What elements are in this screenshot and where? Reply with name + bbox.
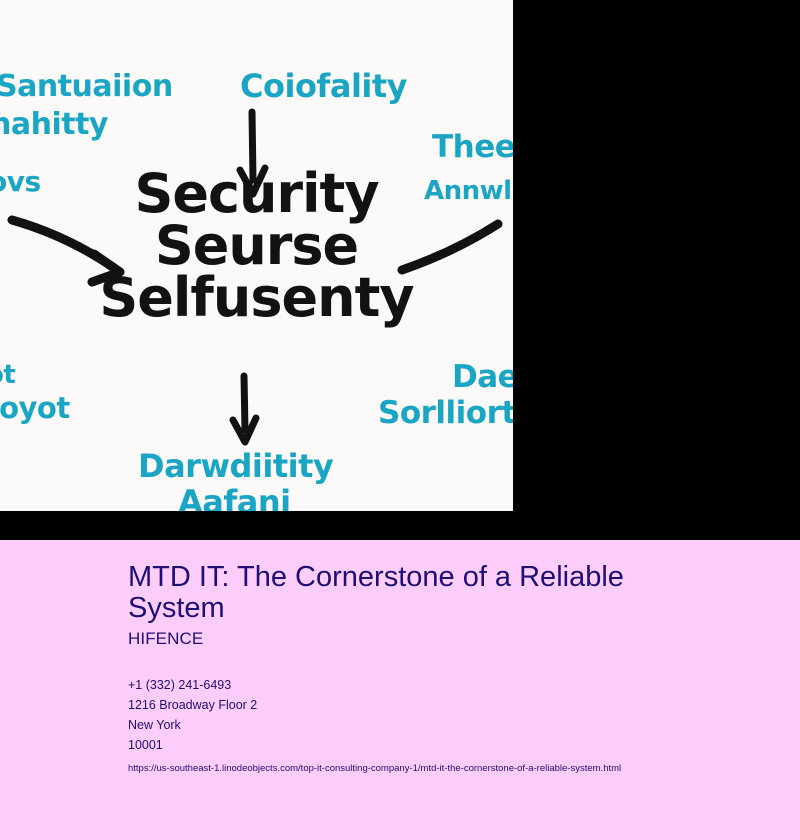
arrow-down-bottom-icon xyxy=(222,372,272,452)
arrow-right-left-side-icon xyxy=(6,214,136,294)
diagram-label-bottom-center-1: Darwdiitity xyxy=(138,450,333,483)
contact-phone: +1 (332) 241-6493 xyxy=(128,675,776,695)
concept-diagram-image: Santuaiion nahitty ovs Coiofality Thee A… xyxy=(0,0,513,511)
diagram-label-bottom-center-2: Aafani xyxy=(178,486,291,511)
diagram-label-bottom-right-2: Sorlliortu xyxy=(378,398,513,430)
diagram-label-bottom-left-2: aoyot xyxy=(0,394,70,424)
diagram-label-top-center: Coiofality xyxy=(240,70,407,103)
diagram-label-top-right-1: Thee xyxy=(432,132,513,164)
brand-name: HIFENCE xyxy=(128,629,776,649)
diagram-label-top-left-1: Santuaiion xyxy=(0,72,173,103)
arrow-down-top-icon xyxy=(232,108,282,208)
diagram-label-bottom-left-1: ot xyxy=(0,362,15,389)
contact-zip: 10001 xyxy=(128,735,776,755)
article-info-inner: MTD IT: The Cornerstone of a Reliable Sy… xyxy=(128,562,776,777)
media-letterbox-band: Santuaiion nahitty ovs Coiofality Thee A… xyxy=(0,0,800,540)
contact-street: 1216 Broadway Floor 2 xyxy=(128,695,776,715)
arrow-stroke-right-side-icon xyxy=(398,218,513,282)
contact-city: New York xyxy=(128,715,776,735)
diagram-label-top-left-2: nahitty xyxy=(0,110,108,141)
source-url-link[interactable]: https://us-southeast-1.linodeobjects.com… xyxy=(128,761,776,777)
diagram-label-bottom-right-1: Dae xyxy=(452,362,513,394)
contact-block: +1 (332) 241-6493 1216 Broadway Floor 2 … xyxy=(128,675,776,755)
article-info-panel: MTD IT: The Cornerstone of a Reliable Sy… xyxy=(0,540,800,840)
page-title: MTD IT: The Cornerstone of a Reliable Sy… xyxy=(128,562,698,623)
